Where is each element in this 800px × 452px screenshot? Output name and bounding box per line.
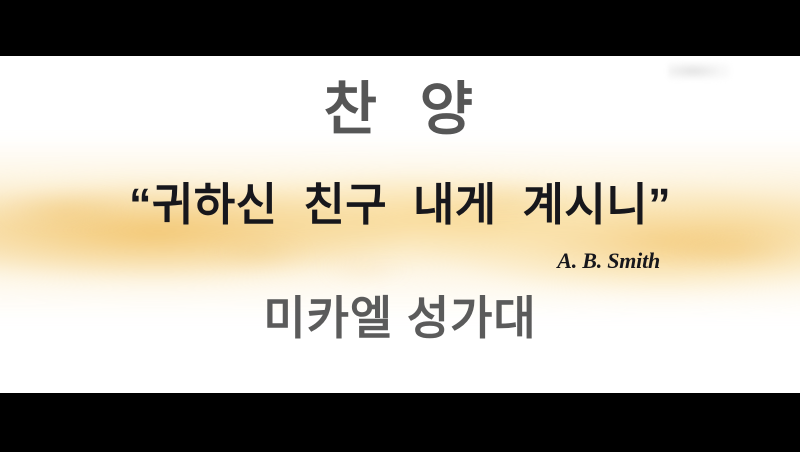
letterbox-bar-top [0,0,800,56]
slide-title: 찬 양 [0,80,800,141]
composer-attribution: A. B. Smith [0,248,800,274]
video-frame: 찬 양 “귀하신 친구 내게 계시니” A. B. Smith 미카엘 성가대 [0,0,800,452]
faint-watermark-smudge [668,62,730,80]
letterbox-bar-bottom [0,393,800,452]
song-title-quote: “귀하신 친구 내게 계시니” [0,180,800,230]
performer-name: 미카엘 성가대 [0,293,800,344]
title-slide: 찬 양 “귀하신 친구 내게 계시니” A. B. Smith 미카엘 성가대 [0,56,800,393]
